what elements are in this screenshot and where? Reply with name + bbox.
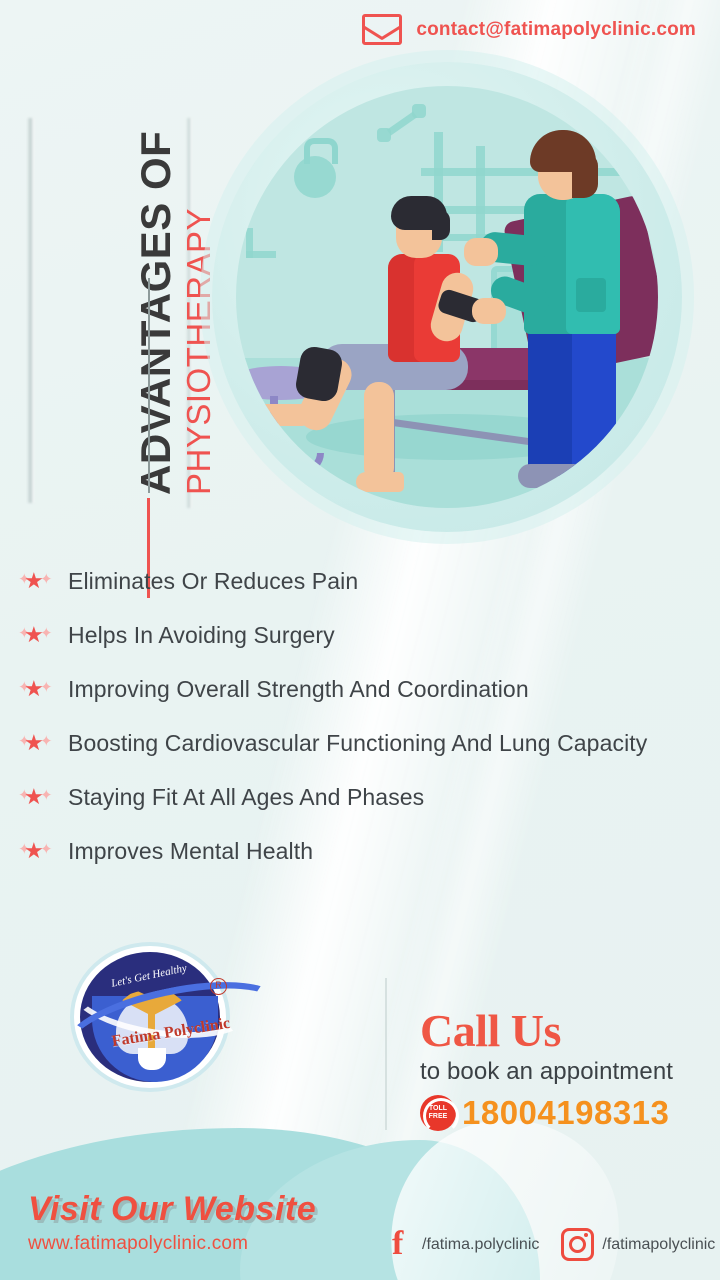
toll-free-badge-icon: TOLL FREE bbox=[420, 1095, 456, 1131]
benefits-list: ✦✦★ Eliminates Or Reduces Pain ✦✦★ Helps… bbox=[22, 566, 662, 890]
benefit-text: Improving Overall Strength And Coordinat… bbox=[68, 674, 529, 705]
list-item: ✦✦★ Eliminates Or Reduces Pain bbox=[22, 566, 662, 598]
list-item: ✦✦★ Improves Mental Health bbox=[22, 836, 662, 868]
therapist-pants-highlight bbox=[572, 326, 616, 476]
website-block[interactable]: Visit Our Website www.fatimapolyclinic.c… bbox=[28, 1190, 348, 1255]
social-links: f /fatima.polyclinic /fatimapolyclinic bbox=[392, 1228, 715, 1261]
call-us-title: Call Us bbox=[420, 1008, 705, 1054]
section-divider bbox=[385, 978, 387, 1130]
list-item: ✦✦★ Boosting Cardiovascular Functioning … bbox=[22, 728, 662, 760]
star-icon: ✦✦★ bbox=[22, 840, 52, 868]
patient-foot-front bbox=[250, 404, 306, 426]
hero-inner-circle bbox=[236, 86, 658, 508]
call-us-block: Call Us to book an appointment TOLL FREE… bbox=[420, 1008, 705, 1132]
patient-hair-back bbox=[432, 210, 450, 240]
therapist-shoe-right bbox=[576, 464, 626, 486]
star-icon: ✦✦★ bbox=[22, 786, 52, 814]
page-title-main: ADVANTAGES OF bbox=[132, 131, 180, 495]
facebook-icon: f bbox=[392, 1230, 414, 1260]
website-heading: Visit Our Website bbox=[28, 1190, 348, 1229]
list-item: ✦✦★ Helps In Avoiding Surgery bbox=[22, 620, 662, 652]
benefit-text: Boosting Cardiovascular Functioning And … bbox=[68, 728, 647, 759]
barbell-rack-icon bbox=[421, 168, 631, 176]
hero-illustration bbox=[212, 62, 682, 532]
poster-canvas: contact@fatimapolyclinic.com ADVANTAGES … bbox=[0, 0, 720, 1280]
rack-post-mid-icon bbox=[476, 146, 485, 246]
therapist-scrub-pocket bbox=[576, 278, 606, 312]
call-us-subtitle: to book an appointment bbox=[420, 1058, 705, 1086]
kettlebell-handle-icon bbox=[304, 138, 338, 164]
clinic-logo[interactable]: Let's Get Healthy Fatima Polyclinic R bbox=[58, 944, 273, 1094]
email-address[interactable]: contact@fatimapolyclinic.com bbox=[416, 19, 696, 41]
star-icon: ✦✦★ bbox=[22, 570, 52, 598]
star-icon: ✦✦★ bbox=[22, 732, 52, 760]
dumbbell-weight-right-icon bbox=[412, 104, 426, 118]
envelope-icon bbox=[362, 14, 402, 45]
instagram-icon bbox=[561, 1228, 594, 1261]
stool-base bbox=[244, 453, 324, 474]
facebook-link[interactable]: f /fatima.polyclinic bbox=[392, 1230, 539, 1260]
title-divider-gray bbox=[148, 278, 150, 493]
therapist-hair-back bbox=[572, 152, 598, 198]
list-item: ✦✦★ Improving Overall Strength And Coord… bbox=[22, 674, 662, 706]
page-title-accent: PHYSIOTHERAPY bbox=[180, 208, 218, 495]
therapist-hand-lower bbox=[472, 298, 506, 324]
benefit-text: Improves Mental Health bbox=[68, 836, 313, 867]
registered-trademark-icon: R bbox=[210, 978, 227, 995]
corner-mark-horizontal bbox=[246, 251, 276, 258]
email-header: contact@fatimapolyclinic.com bbox=[362, 14, 696, 45]
patient-shin-back bbox=[364, 382, 394, 482]
therapist-scrub-highlight bbox=[566, 194, 620, 334]
patient-foot-back bbox=[356, 472, 404, 492]
benefit-text: Staying Fit At All Ages And Phases bbox=[68, 782, 424, 813]
therapist-shoe-left bbox=[518, 464, 580, 488]
benefit-text: Eliminates Or Reduces Pain bbox=[68, 566, 358, 597]
star-icon: ✦✦★ bbox=[22, 678, 52, 706]
instagram-link[interactable]: /fatimapolyclinic bbox=[561, 1228, 715, 1261]
therapist-hand-upper bbox=[464, 238, 498, 266]
facebook-handle: /fatima.polyclinic bbox=[422, 1236, 539, 1254]
website-url[interactable]: www.fatimapolyclinic.com bbox=[28, 1233, 348, 1255]
phone-number[interactable]: 18004198313 bbox=[462, 1094, 669, 1132]
phone-row[interactable]: TOLL FREE 18004198313 bbox=[420, 1094, 705, 1132]
page-title: ADVANTAGES OF PHYSIOTHERAPY bbox=[20, 120, 200, 510]
benefit-text: Helps In Avoiding Surgery bbox=[68, 620, 335, 651]
instagram-handle: /fatimapolyclinic bbox=[602, 1236, 715, 1254]
toll-free-headset-arc bbox=[423, 1098, 459, 1134]
list-item: ✦✦★ Staying Fit At All Ages And Phases bbox=[22, 782, 662, 814]
dumbbell-weight-left-icon bbox=[377, 128, 391, 142]
star-icon: ✦✦★ bbox=[22, 624, 52, 652]
